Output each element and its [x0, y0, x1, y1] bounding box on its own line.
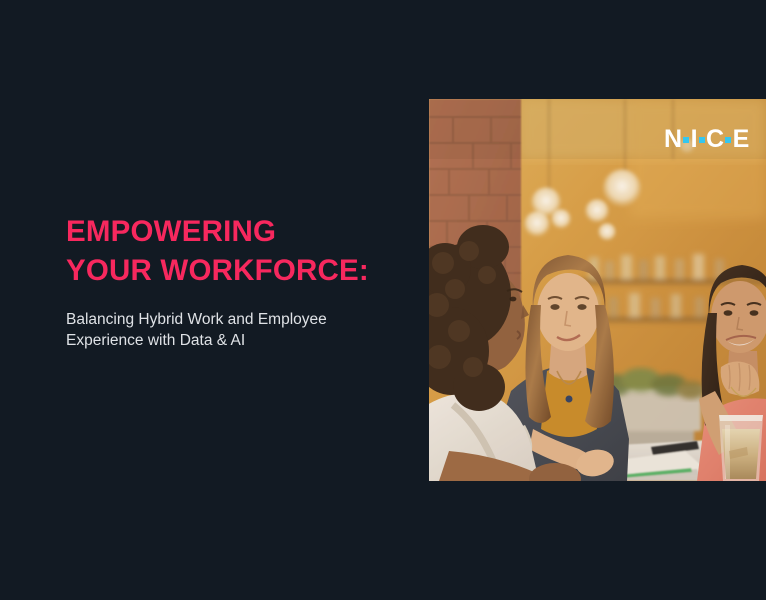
logo-letter-e: E [733, 127, 749, 152]
hero-photo-image [429, 99, 766, 481]
headline-line-1: EMPOWERING [66, 215, 276, 248]
logo-letter-c: C [706, 127, 724, 152]
nice-logo: N I C E [664, 127, 749, 152]
logo-letter-n: N [664, 127, 682, 152]
logo-dot-3 [725, 137, 731, 143]
text-block: EMPOWERING YOUR WORKFORCE: Balancing Hyb… [66, 212, 411, 351]
headline-line-2: YOUR WORKFORCE: [66, 251, 411, 290]
logo-dot-1 [683, 137, 689, 143]
slide-root: EMPOWERING YOUR WORKFORCE: Balancing Hyb… [0, 0, 766, 600]
page-subtitle: Balancing Hybrid Work and Employee Exper… [66, 290, 366, 351]
logo-letter-i: I [691, 127, 697, 152]
page-title: EMPOWERING YOUR WORKFORCE: [66, 212, 411, 290]
hero-photo [429, 99, 766, 481]
logo-dot-2 [699, 137, 705, 143]
